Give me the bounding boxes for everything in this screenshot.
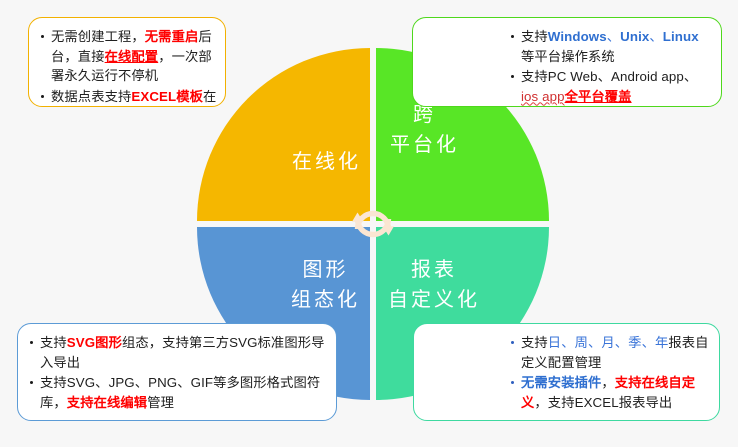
emphasis-blue: Windows [548,29,607,44]
emphasis-red: 无需重启 [145,29,199,44]
list-item: 支持日、周、月、季、年报表自定义配置管理 [509,333,709,372]
list-item: 数据点表支持EXCEL模板在线导入导出，简化设备对接层 [39,87,225,108]
callout-graphic: 支持SVG图形组态，支持第三方SVG标准图形导入导出 支持SVG、JPG、PNG… [17,323,337,421]
list-item: 支持PC Web、Android app、ios app全平台覆盖 [509,67,711,106]
emphasis-blue: Linux [663,29,699,44]
list-item: 支持SVG图形组态，支持第三方SVG标准图形导入导出 [28,333,336,372]
spellcheck-text: ios app [521,89,565,104]
list-item: 无需创建工程，无需重启后台，直接在线配置，一次部署永久运行不停机 [39,27,225,86]
callout-cross-platform: 支持Windows、Unix、Linux等平台操作系统 支持PC Web、And… [412,17,722,107]
callout-report-list: 支持日、周、月、季、年报表自定义配置管理 无需安装插件，支持在线自定义，支持EX… [414,324,719,421]
emphasis-blue: 日、周、月、季、年 [548,335,669,350]
quadrant-report-label: 报表 自定义化 [388,255,480,315]
callout-graphic-list: 支持SVG图形组态，支持第三方SVG标准图形导入导出 支持SVG、JPG、PNG… [18,324,336,421]
emphasis-red-underline: 全平台覆盖 [565,89,632,104]
emphasis-red: EXCEL模板 [131,89,203,104]
list-item: 无需安装插件，支持在线自定义，支持EXCEL报表导出 [509,373,709,412]
callout-cross-platform-list: 支持Windows、Unix、Linux等平台操作系统 支持PC Web、And… [413,18,721,107]
list-item: 支持SVG、JPG、PNG、GIF等多图形格式图符库，支持在线编辑管理 [28,373,336,412]
diagram-canvas: 在线化 跨 平台化 图形 组态化 报表 自定义化 [0,0,738,447]
emphasis-blue: Unix [620,29,649,44]
callout-online-list: 无需创建工程，无需重启后台，直接在线配置，一次部署永久运行不停机 数据点表支持E… [29,18,225,107]
emphasis-red-underline: 在线配置 [105,49,159,64]
emphasis-red: 支持在线编辑 [67,395,147,410]
emphasis-blue: 无需安装插件 [521,375,601,390]
emphasis-red: SVG图形 [67,335,122,350]
callout-report: 支持日、周、月、季、年报表自定义配置管理 无需安装插件，支持在线自定义，支持EX… [413,323,720,421]
list-item: 支持Windows、Unix、Linux等平台操作系统 [509,27,711,66]
quadrant-graphic-label: 图形 组态化 [291,255,360,315]
quadrant-cross-platform-label: 跨 平台化 [390,100,459,160]
quadrant-online-label: 在线化 [292,147,361,177]
callout-online: 无需创建工程，无需重启后台，直接在线配置，一次部署永久运行不停机 数据点表支持E… [28,17,226,107]
